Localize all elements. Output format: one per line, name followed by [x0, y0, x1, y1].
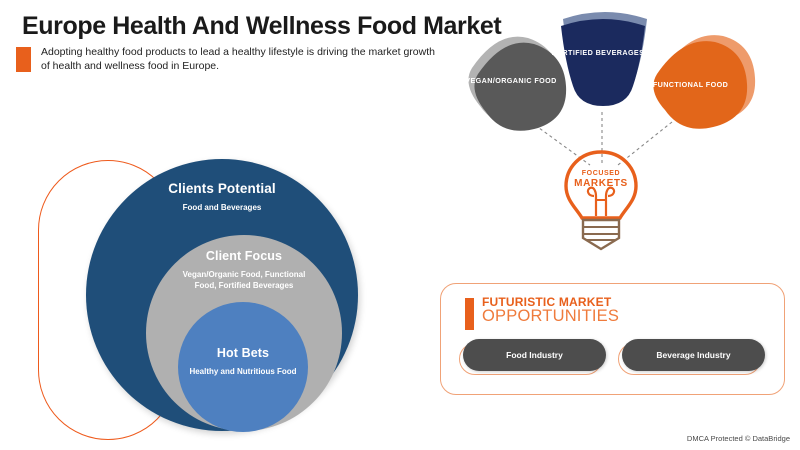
panel-accent-mark-icon	[465, 298, 474, 330]
page-subtitle: Adopting healthy food products to lead a…	[41, 46, 441, 73]
footer-copyright: DMCA Protected © DataBridge	[687, 434, 790, 443]
nested-circles-diagram: Clients Potential Food and Beverages Cli…	[0, 150, 420, 450]
subtitle-block: Adopting healthy food products to lead a…	[16, 46, 441, 73]
circle-middle-heading: Client Focus	[206, 249, 282, 263]
pill-wrap-food: Food Industry	[463, 339, 606, 373]
accent-mark-icon	[16, 47, 31, 72]
panel-heading: FUTURISTIC MARKET OPPORTUNITIES	[465, 296, 619, 330]
pill-wrap-beverage: Beverage Industry	[622, 339, 765, 373]
circle-middle-subtext: Vegan/Organic Food, Functional Food, For…	[179, 270, 309, 291]
page-title: Europe Health And Wellness Food Market	[22, 12, 501, 41]
button-food-industry[interactable]: Food Industry	[463, 339, 606, 371]
lightbulb-icon: FOCUSED MARKETS	[556, 148, 646, 253]
infographic-canvas: Europe Health And Wellness Food Market A…	[0, 0, 800, 450]
futuristic-opportunities-panel: FUTURISTIC MARKET OPPORTUNITIES Food Ind…	[440, 283, 785, 395]
circle-inner-subtext: Healthy and Nutritious Food	[189, 367, 296, 378]
circle-inner-heading: Hot Bets	[217, 346, 269, 360]
button-beverage-industry[interactable]: Beverage Industry	[622, 339, 765, 371]
circle-outer-heading: Clients Potential	[168, 181, 275, 196]
petal-group: VEGAN/ORGANIC FOOD FORTIFIED BEVERAGES F…	[450, 0, 800, 160]
industry-button-group: Food Industry Beverage Industry	[463, 339, 765, 373]
petal-functional-food[interactable]: FUNCTIONAL FOOD	[635, 30, 750, 130]
circle-hot-bets: Hot Bets Healthy and Nutritious Food	[178, 302, 308, 432]
panel-heading-bottom: OPPORTUNITIES	[482, 308, 619, 325]
circle-outer-subtext: Food and Beverages	[183, 203, 262, 214]
